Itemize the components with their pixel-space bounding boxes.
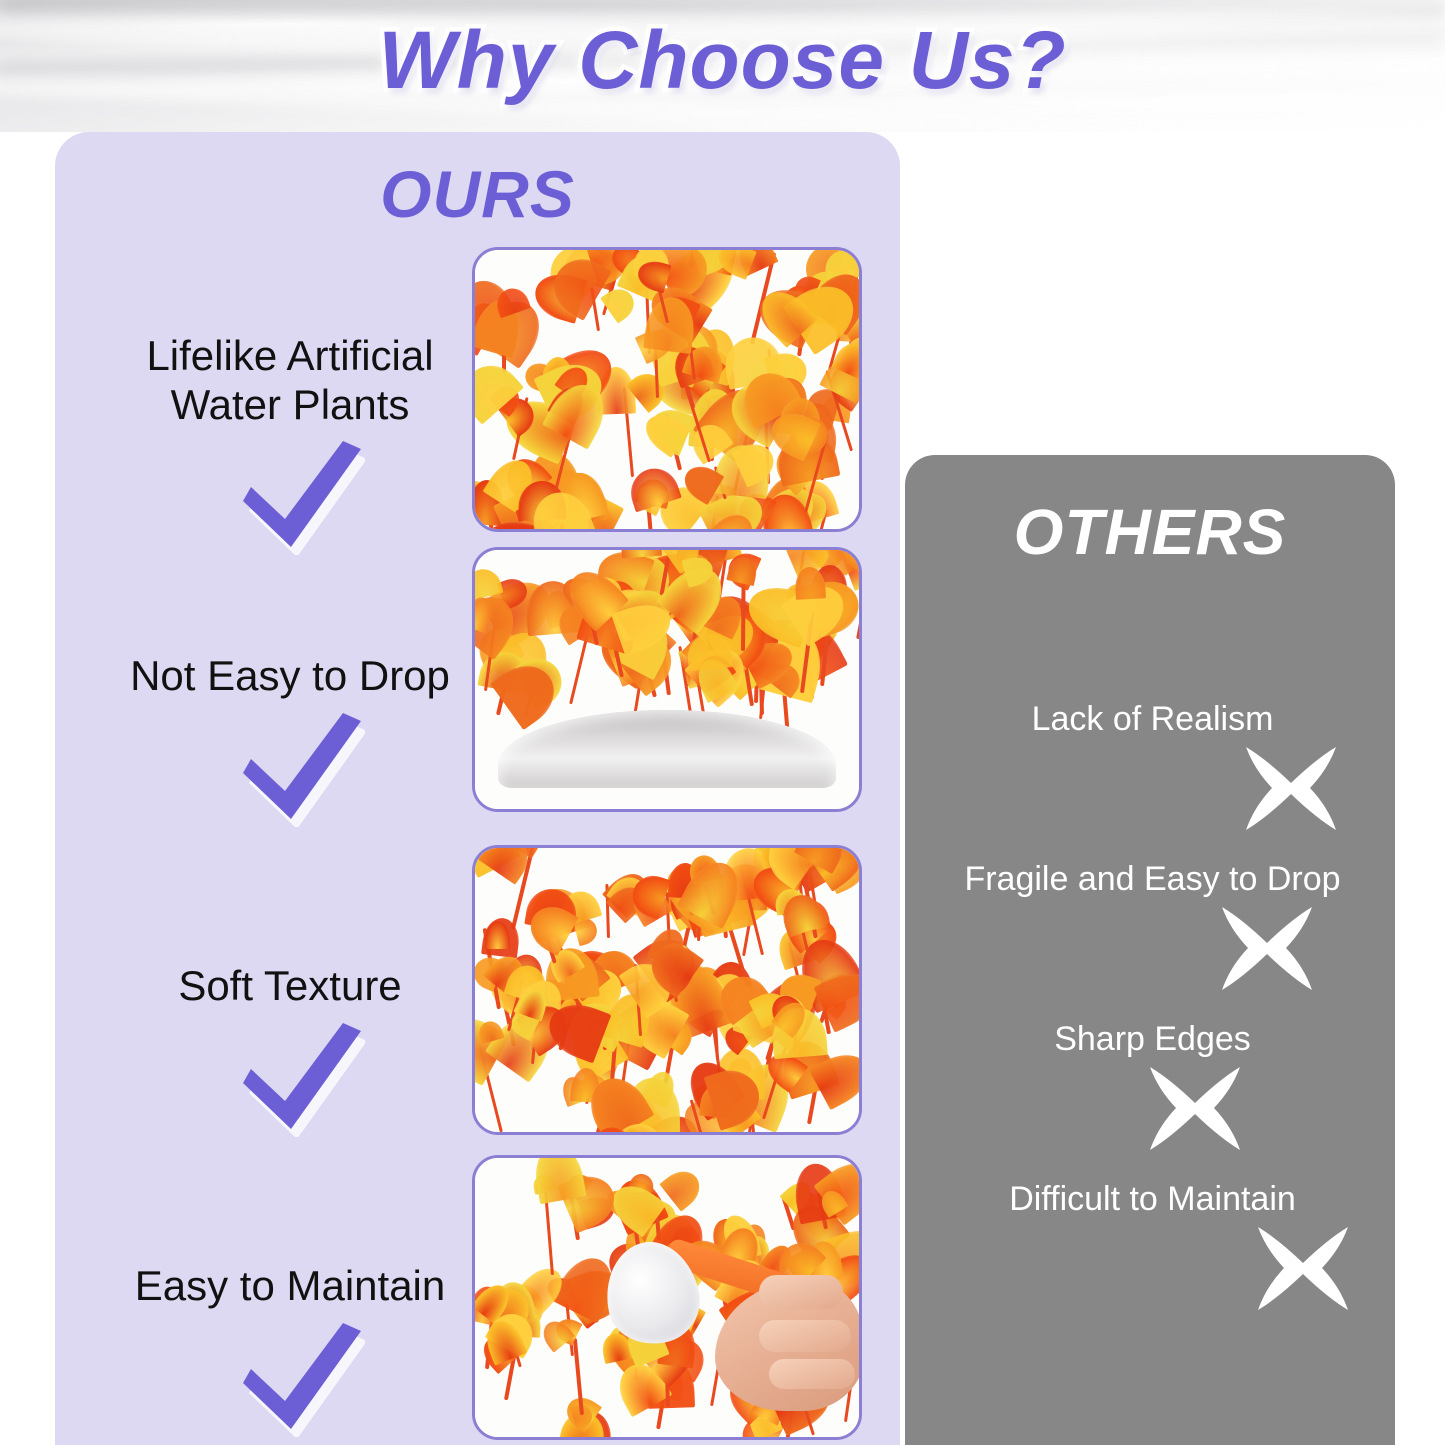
finger <box>759 1320 851 1352</box>
x-icon <box>1212 901 1322 996</box>
page-title: Why Choose Us? <box>0 14 1445 108</box>
ours-heading: OURS <box>55 156 900 232</box>
plant-leaf <box>531 1158 588 1204</box>
check-icon <box>215 1317 365 1437</box>
others-drawback-1: Lack of Realism <box>925 700 1380 836</box>
ours-feature-4-label: Easy to Maintain <box>95 1262 485 1311</box>
ours-feature-1-label: Lifelike ArtificialWater Plants <box>95 332 485 429</box>
x-icon <box>1236 741 1346 836</box>
ours-photo-2 <box>472 547 862 812</box>
ours-feature-1: Lifelike ArtificialWater Plants <box>95 332 485 555</box>
check-icon <box>215 707 365 827</box>
x-icon <box>1248 1221 1358 1316</box>
others-drawback-4-label: Difficult to Maintain <box>925 1180 1380 1219</box>
others-drawback-3-label: Sharp Edges <box>925 1020 1380 1059</box>
others-drawback-4: Difficult to Maintain <box>925 1180 1380 1316</box>
ours-photo-1 <box>472 247 862 532</box>
ours-feature-4: Easy to Maintain <box>95 1262 485 1437</box>
others-drawback-1-label: Lack of Realism <box>925 700 1380 739</box>
check-icon <box>215 1017 365 1137</box>
ours-feature-3: Soft Texture <box>95 962 485 1137</box>
ours-feature-2-label: Not Easy to Drop <box>95 652 485 701</box>
others-drawback-2-label: Fragile and Easy to Drop <box>925 860 1380 899</box>
check-icon <box>215 435 365 555</box>
others-heading: OTHERS <box>905 495 1395 569</box>
ours-feature-3-label: Soft Texture <box>95 962 485 1011</box>
others-drawback-2: Fragile and Easy to Drop <box>925 860 1380 996</box>
ours-feature-2: Not Easy to Drop <box>95 652 485 827</box>
finger <box>759 1275 843 1309</box>
finger <box>769 1359 855 1389</box>
x-icon <box>1140 1061 1250 1156</box>
ours-photo-4 <box>472 1155 862 1440</box>
others-panel: OTHERS Lack of Realism Fragile and Easy … <box>905 455 1395 1445</box>
ours-photo-3 <box>472 845 862 1135</box>
others-drawback-3: Sharp Edges <box>925 1020 1380 1156</box>
